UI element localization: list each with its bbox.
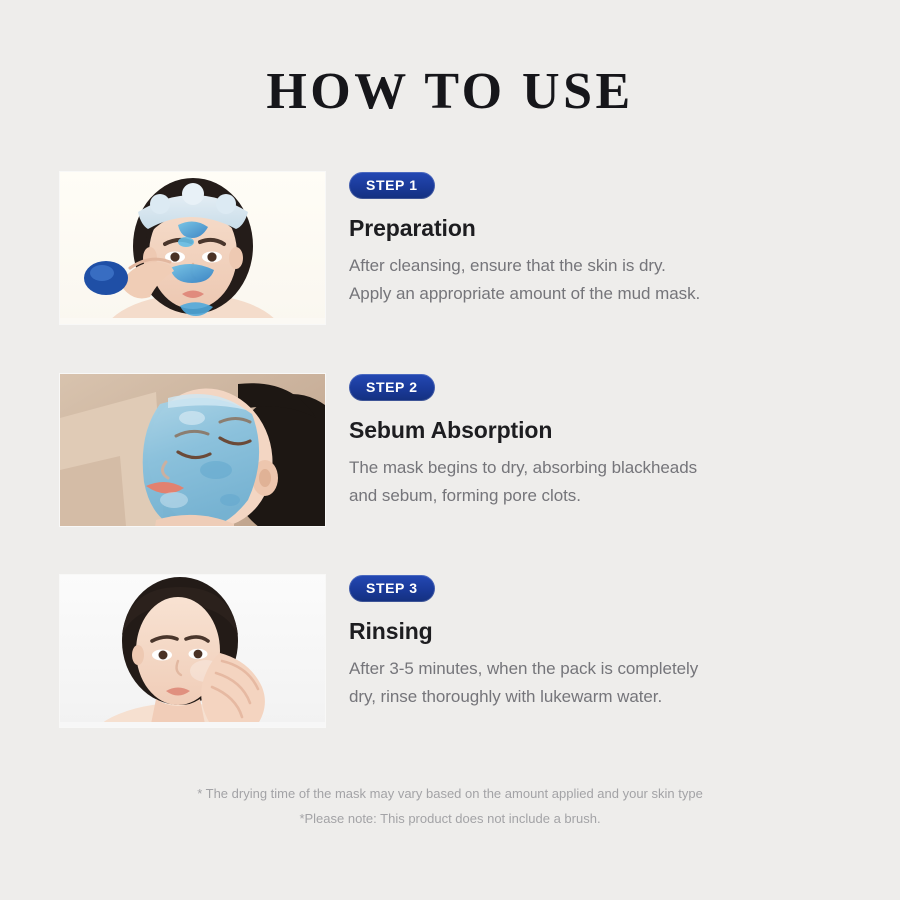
footer-notes: * The drying time of the mask may vary b… [0,782,900,831]
step-row: STEP 2 Sebum Absorption The mask begins … [0,374,900,575]
steps-list: STEP 1 Preparation After cleansing, ensu… [0,172,900,777]
step-3-description-line: After 3-5 minutes, when the pack is comp… [349,655,869,683]
step-2-text: STEP 2 Sebum Absorption The mask begins … [349,374,869,509]
step-2-description-line: and sebum, forming pore clots. [349,482,869,510]
step-3-badge: STEP 3 [349,575,435,602]
step-3-description-line: dry, rinse thoroughly with lukewarm wate… [349,683,869,711]
step-3-image [60,575,325,727]
how-to-use-infographic: HOW TO USE [0,0,900,900]
step-2-description: The mask begins to dry, absorbing blackh… [349,454,869,509]
page-title: HOW TO USE [0,62,900,121]
step-row: STEP 3 Rinsing After 3-5 minutes, when t… [0,575,900,777]
step-2-description-line: The mask begins to dry, absorbing blackh… [349,454,869,482]
step-1-description-line: After cleansing, ensure that the skin is… [349,252,869,280]
step-1-text: STEP 1 Preparation After cleansing, ensu… [349,172,869,307]
step-1-description: After cleansing, ensure that the skin is… [349,252,869,307]
step-1-description-line: Apply an appropriate amount of the mud m… [349,280,869,308]
step-1-image [60,172,325,324]
step-3-heading: Rinsing [349,618,869,645]
footer-note-no-brush: *Please note: This product does not incl… [0,807,900,832]
step-1-photo-illustration [60,172,325,324]
footer-note-drying-time: * The drying time of the mask may vary b… [0,782,900,807]
step-2-image [60,374,325,526]
step-2-badge: STEP 2 [349,374,435,401]
step-1-badge: STEP 1 [349,172,435,199]
step-row: STEP 1 Preparation After cleansing, ensu… [0,172,900,374]
step-2-photo-illustration [60,374,325,526]
step-3-description: After 3-5 minutes, when the pack is comp… [349,655,869,710]
step-1-heading: Preparation [349,215,869,242]
step-2-heading: Sebum Absorption [349,417,869,444]
step-3-photo-illustration [60,575,325,727]
step-3-text: STEP 3 Rinsing After 3-5 minutes, when t… [349,575,869,710]
